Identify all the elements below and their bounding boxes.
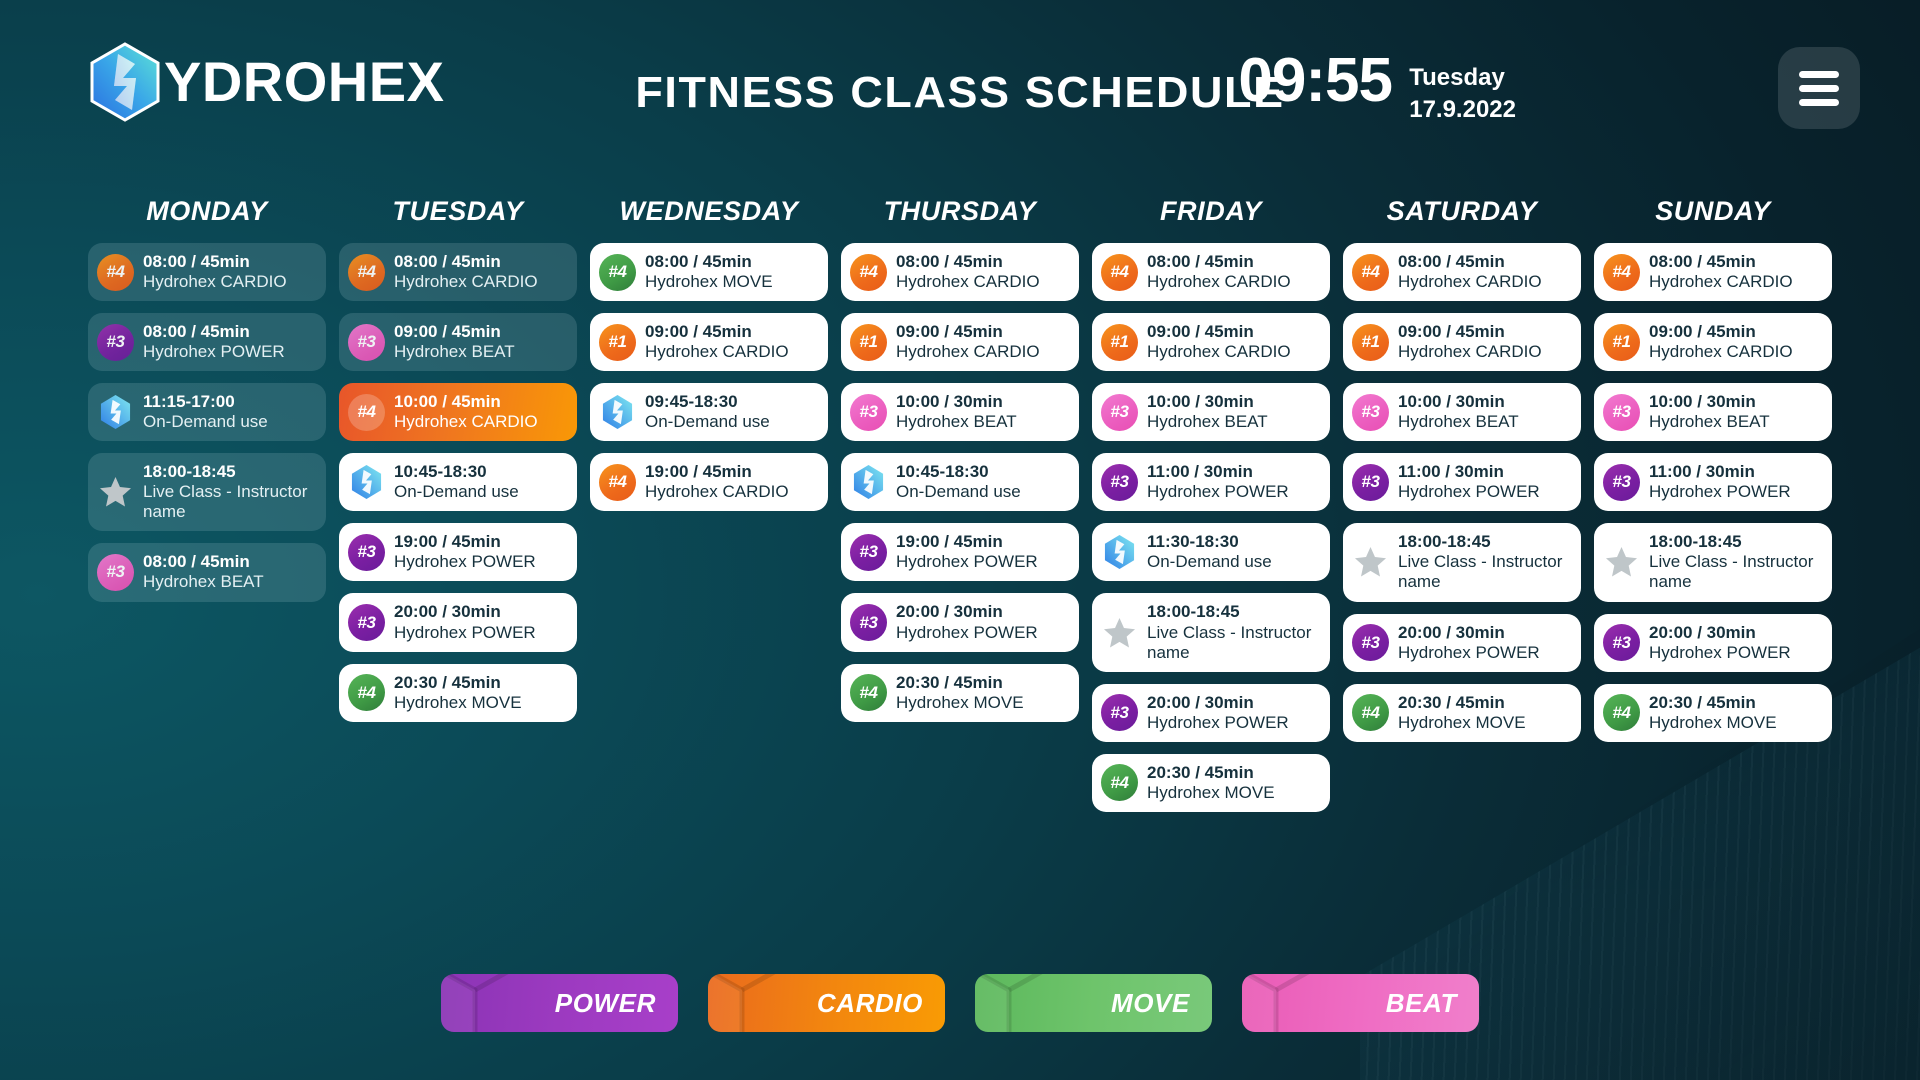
class-card[interactable]: #420:30 / 45minHydrohex MOVE (1594, 684, 1832, 742)
class-card-text: 20:00 / 30minHydrohex POWER (1147, 693, 1289, 733)
class-card-text: 10:00 / 30minHydrohex BEAT (1398, 392, 1519, 432)
class-card[interactable]: #308:00 / 45minHydrohex POWER (88, 313, 326, 371)
class-name: Hydrohex POWER (143, 342, 285, 362)
class-card-text: 08:00 / 45minHydrohex POWER (143, 322, 285, 362)
class-card-text: 20:30 / 45minHydrohex MOVE (896, 673, 1024, 713)
class-card[interactable]: #408:00 / 45minHydrohex CARDIO (339, 243, 577, 301)
class-time: 18:00-18:45 (1649, 532, 1822, 552)
class-level-badge: #3 (348, 604, 385, 641)
class-card[interactable]: #408:00 / 45minHydrohex CARDIO (1092, 243, 1330, 301)
day-header: THURSDAY (841, 196, 1079, 227)
class-card-text: 10:00 / 45minHydrohex CARDIO (394, 392, 538, 432)
class-name: Hydrohex POWER (394, 623, 536, 643)
class-time: 09:00 / 45min (1649, 322, 1793, 342)
class-card[interactable]: #311:00 / 30minHydrohex POWER (1092, 453, 1330, 511)
class-time: 10:45-18:30 (896, 462, 1021, 482)
day-column-friday: FRIDAY#408:00 / 45minHydrohex CARDIO#109… (1092, 196, 1330, 824)
class-time: 20:00 / 30min (1649, 623, 1791, 643)
class-card-text: 09:00 / 45minHydrohex CARDIO (1398, 322, 1542, 362)
legend-button-beat[interactable]: BEAT (1242, 974, 1479, 1032)
class-time: 08:00 / 45min (1649, 252, 1793, 272)
class-card[interactable]: #109:00 / 45minHydrohex CARDIO (1092, 313, 1330, 371)
class-level-badge: #4 (1352, 254, 1389, 291)
class-card-text: 08:00 / 45minHydrohex CARDIO (1147, 252, 1291, 292)
class-level-badge: #3 (1352, 394, 1389, 431)
class-name: Hydrohex BEAT (896, 412, 1017, 432)
class-card[interactable]: #109:00 / 45minHydrohex CARDIO (1594, 313, 1832, 371)
class-name: Hydrohex POWER (1649, 643, 1791, 663)
day-header: MONDAY (88, 196, 326, 227)
class-name: Hydrohex MOVE (1147, 783, 1275, 803)
legend-button-cardio[interactable]: CARDIO (708, 974, 945, 1032)
class-card[interactable]: 11:30-18:30On-Demand use (1092, 523, 1330, 581)
class-level-badge: #3 (1101, 464, 1138, 501)
class-card[interactable]: #420:30 / 45minHydrohex MOVE (841, 664, 1079, 722)
class-time: 08:00 / 45min (645, 252, 773, 272)
class-time: 19:00 / 45min (394, 532, 536, 552)
legend-label: MOVE (1111, 988, 1190, 1019)
class-time: 09:00 / 45min (394, 322, 515, 342)
class-card[interactable]: 10:45-18:30On-Demand use (841, 453, 1079, 511)
class-level-badge: #4 (850, 674, 887, 711)
class-level-badge: #4 (850, 254, 887, 291)
class-card[interactable]: #309:00 / 45minHydrohex BEAT (339, 313, 577, 371)
day-column-monday: MONDAY#408:00 / 45minHydrohex CARDIO#308… (88, 196, 326, 824)
class-time: 11:00 / 30min (1147, 462, 1289, 482)
class-card[interactable]: #419:00 / 45minHydrohex CARDIO (590, 453, 828, 511)
class-name: Hydrohex POWER (896, 623, 1038, 643)
class-name: Hydrohex BEAT (1649, 412, 1770, 432)
class-name: Hydrohex CARDIO (1649, 272, 1793, 292)
day-header: SATURDAY (1343, 196, 1581, 227)
class-card-text: 20:30 / 45minHydrohex MOVE (394, 673, 522, 713)
class-name: Hydrohex CARDIO (394, 272, 538, 292)
class-card-text: 10:00 / 30minHydrohex BEAT (1147, 392, 1268, 432)
class-card-text: 08:00 / 45minHydrohex CARDIO (143, 252, 287, 292)
class-level-badge: #4 (1603, 694, 1640, 731)
class-time: 10:45-18:30 (394, 462, 519, 482)
class-card-text: 08:00 / 45minHydrohex CARDIO (1649, 252, 1793, 292)
class-card[interactable]: #420:30 / 45minHydrohex MOVE (1092, 754, 1330, 812)
class-card[interactable]: #408:00 / 45minHydrohex CARDIO (1594, 243, 1832, 301)
class-level-badge: #3 (1101, 694, 1138, 731)
class-card-text: 09:00 / 45minHydrohex BEAT (394, 322, 515, 362)
class-name: Hydrohex BEAT (1147, 412, 1268, 432)
class-card-text: 18:00-18:45Live Class - Instructor name (1649, 532, 1822, 592)
class-level-badge: #4 (599, 464, 636, 501)
class-card[interactable]: #310:00 / 30minHydrohex BEAT (841, 383, 1079, 441)
hydrohex-hexagon-icon (850, 464, 887, 501)
class-card-text: 11:00 / 30minHydrohex POWER (1398, 462, 1540, 502)
class-card-text: 20:00 / 30minHydrohex POWER (896, 602, 1038, 642)
class-level-badge: #4 (1352, 694, 1389, 731)
class-name: Hydrohex POWER (394, 552, 536, 572)
class-card[interactable]: #311:00 / 30minHydrohex POWER (1594, 453, 1832, 511)
class-level-badge: #3 (850, 604, 887, 641)
class-card-text: 09:00 / 45minHydrohex CARDIO (896, 322, 1040, 362)
class-level-badge: #1 (599, 324, 636, 361)
class-card[interactable]: 11:15-17:00On-Demand use (88, 383, 326, 441)
class-name: Hydrohex CARDIO (896, 272, 1040, 292)
day-name: Tuesday (1409, 62, 1516, 94)
class-level-badge: #3 (1603, 394, 1640, 431)
hydrohex-hexagon-icon (1101, 534, 1138, 571)
class-name: Hydrohex CARDIO (1398, 272, 1542, 292)
class-card-text: 19:00 / 45minHydrohex CARDIO (645, 462, 789, 502)
class-name: Hydrohex MOVE (1398, 713, 1526, 733)
class-card[interactable]: #109:00 / 45minHydrohex CARDIO (590, 313, 828, 371)
class-card[interactable]: 18:00-18:45Live Class - Instructor name (1343, 523, 1581, 601)
menu-line (1799, 85, 1839, 92)
class-name: On-Demand use (896, 482, 1021, 502)
class-level-badge: #3 (348, 534, 385, 571)
class-card[interactable]: #310:00 / 30minHydrohex BEAT (1092, 383, 1330, 441)
class-level-badge: #4 (1101, 254, 1138, 291)
class-name: On-Demand use (394, 482, 519, 502)
menu-line (1799, 71, 1839, 78)
legend-button-move[interactable]: MOVE (975, 974, 1212, 1032)
class-name: Hydrohex CARDIO (143, 272, 287, 292)
class-card-text: 18:00-18:45Live Class - Instructor name (1147, 602, 1320, 662)
class-time: 18:00-18:45 (143, 462, 316, 482)
class-card-text: 11:00 / 30minHydrohex POWER (1147, 462, 1289, 502)
class-time: 10:00 / 30min (1398, 392, 1519, 412)
class-card-text: 20:30 / 45minHydrohex MOVE (1649, 693, 1777, 733)
class-card-text: 20:00 / 30minHydrohex POWER (1649, 623, 1791, 663)
class-level-badge: #3 (850, 534, 887, 571)
class-card[interactable]: #420:30 / 45minHydrohex MOVE (1343, 684, 1581, 742)
class-name: Hydrohex POWER (1398, 643, 1540, 663)
class-time: 20:00 / 30min (394, 602, 536, 622)
class-card[interactable]: #420:30 / 45minHydrohex MOVE (339, 664, 577, 722)
class-time: 09:00 / 45min (1147, 322, 1291, 342)
class-name: Hydrohex BEAT (394, 342, 515, 362)
class-time: 10:00 / 30min (1649, 392, 1770, 412)
star-icon (1603, 544, 1640, 581)
class-name: Hydrohex POWER (1147, 713, 1289, 733)
date-value: 17.9.2022 (1409, 94, 1516, 126)
class-time: 19:00 / 45min (896, 532, 1038, 552)
class-card[interactable]: #320:00 / 30minHydrohex POWER (339, 593, 577, 651)
class-name: Hydrohex MOVE (394, 693, 522, 713)
day-header: SUNDAY (1594, 196, 1832, 227)
class-name: Live Class - Instructor name (1398, 552, 1571, 592)
class-card[interactable]: #320:00 / 30minHydrohex POWER (1092, 684, 1330, 742)
schedule-board: YDROHEX FITNESS CLASS SCHEDULE 09:55 Tue… (0, 0, 1920, 1080)
class-card-text: 18:00-18:45Live Class - Instructor name (143, 462, 316, 522)
class-name: Live Class - Instructor name (1147, 623, 1320, 663)
schedule-grid: MONDAY#408:00 / 45minHydrohex CARDIO#308… (88, 196, 1848, 824)
class-name: Hydrohex CARDIO (896, 342, 1040, 362)
class-card[interactable]: 18:00-18:45Live Class - Instructor name (1594, 523, 1832, 601)
class-level-badge: #3 (1101, 394, 1138, 431)
class-name: Hydrohex POWER (1649, 482, 1791, 502)
class-card-text: 09:00 / 45minHydrohex CARDIO (645, 322, 789, 362)
class-level-badge: #3 (1352, 464, 1389, 501)
hydrohex-hexagon-icon (599, 394, 636, 431)
class-card[interactable]: #308:00 / 45minHydrohex BEAT (88, 543, 326, 601)
class-card-text: 08:00 / 45minHydrohex CARDIO (896, 252, 1040, 292)
day-column-tuesday: TUESDAY#408:00 / 45minHydrohex CARDIO#30… (339, 196, 577, 824)
class-name: Hydrohex POWER (1147, 482, 1289, 502)
class-name: Hydrohex CARDIO (1147, 342, 1291, 362)
legend-label: CARDIO (817, 988, 923, 1019)
class-name: On-Demand use (143, 412, 268, 432)
class-name: Hydrohex POWER (1398, 482, 1540, 502)
class-time: 09:00 / 45min (1398, 322, 1542, 342)
clock: 09:55 (1238, 50, 1392, 112)
class-name: Hydrohex BEAT (1398, 412, 1519, 432)
class-time: 09:00 / 45min (896, 322, 1040, 342)
class-level-badge: #4 (348, 674, 385, 711)
class-card[interactable]: #320:00 / 30minHydrohex POWER (1594, 614, 1832, 672)
hydrohex-hexagon-icon (348, 464, 385, 501)
class-card[interactable]: 18:00-18:45Live Class - Instructor name (1092, 593, 1330, 671)
class-time: 10:00 / 45min (394, 392, 538, 412)
class-card-text: 20:30 / 45minHydrohex MOVE (1398, 693, 1526, 733)
class-card[interactable]: #408:00 / 45minHydrohex CARDIO (841, 243, 1079, 301)
day-header: TUESDAY (339, 196, 577, 227)
class-time: 10:00 / 30min (1147, 392, 1268, 412)
class-time: 11:30-18:30 (1147, 532, 1272, 552)
class-card[interactable]: #410:00 / 45minHydrohex CARDIO (339, 383, 577, 441)
class-card[interactable]: #320:00 / 30minHydrohex POWER (1343, 614, 1581, 672)
class-time: 08:00 / 45min (394, 252, 538, 272)
class-card[interactable]: #408:00 / 45minHydrohex CARDIO (88, 243, 326, 301)
class-time: 20:00 / 30min (1398, 623, 1540, 643)
class-time: 20:00 / 30min (1147, 693, 1289, 713)
day-header: FRIDAY (1092, 196, 1330, 227)
class-name: Hydrohex CARDIO (645, 342, 789, 362)
class-time: 08:00 / 45min (1147, 252, 1291, 272)
class-time: 20:30 / 45min (1147, 763, 1275, 783)
class-card-text: 11:00 / 30minHydrohex POWER (1649, 462, 1791, 502)
class-card[interactable]: #319:00 / 45minHydrohex POWER (841, 523, 1079, 581)
class-time: 18:00-18:45 (1147, 602, 1320, 622)
class-name: Live Class - Instructor name (1649, 552, 1822, 592)
class-level-badge: #3 (97, 324, 134, 361)
class-time: 19:00 / 45min (645, 462, 789, 482)
class-time: 11:15-17:00 (143, 392, 268, 412)
class-card-text: 11:15-17:00On-Demand use (143, 392, 268, 432)
class-name: Hydrohex CARDIO (1398, 342, 1542, 362)
class-time: 08:00 / 45min (143, 252, 287, 272)
menu-line (1799, 99, 1839, 106)
class-card[interactable]: #310:00 / 30minHydrohex BEAT (1594, 383, 1832, 441)
class-level-badge: #4 (348, 254, 385, 291)
class-time: 11:00 / 30min (1398, 462, 1540, 482)
class-card[interactable]: #320:00 / 30minHydrohex POWER (841, 593, 1079, 651)
class-card-text: 10:00 / 30minHydrohex BEAT (1649, 392, 1770, 432)
class-card-text: 09:00 / 45minHydrohex CARDIO (1147, 322, 1291, 362)
star-icon (1101, 614, 1138, 651)
class-card[interactable]: #109:00 / 45minHydrohex CARDIO (841, 313, 1079, 371)
class-card[interactable]: 09:45-18:30On-Demand use (590, 383, 828, 441)
class-level-badge: #3 (1603, 624, 1640, 661)
class-level-badge: #3 (1352, 624, 1389, 661)
class-card-text: 09:45-18:30On-Demand use (645, 392, 770, 432)
hydrohex-hexagon-icon (97, 394, 134, 431)
class-card-text: 19:00 / 45minHydrohex POWER (896, 532, 1038, 572)
class-level-badge: #1 (1603, 324, 1640, 361)
class-level-badge: #4 (348, 394, 385, 431)
class-name: Hydrohex POWER (896, 552, 1038, 572)
class-card-text: 08:00 / 45minHydrohex CARDIO (1398, 252, 1542, 292)
class-card-text: 08:00 / 45minHydrohex CARDIO (394, 252, 538, 292)
date-block: Tuesday 17.9.2022 (1409, 62, 1516, 127)
class-card-text: 20:00 / 30minHydrohex POWER (1398, 623, 1540, 663)
day-column-thursday: THURSDAY#408:00 / 45minHydrohex CARDIO#1… (841, 196, 1079, 824)
class-card-text: 10:45-18:30On-Demand use (896, 462, 1021, 502)
class-name: Hydrohex MOVE (896, 693, 1024, 713)
class-card-text: 11:30-18:30On-Demand use (1147, 532, 1272, 572)
class-name: Hydrohex MOVE (1649, 713, 1777, 733)
class-card-text: 10:00 / 30minHydrohex BEAT (896, 392, 1017, 432)
class-level-badge: #4 (97, 254, 134, 291)
class-name: On-Demand use (1147, 552, 1272, 572)
legend-label: BEAT (1386, 988, 1457, 1019)
class-card-text: 19:00 / 45minHydrohex POWER (394, 532, 536, 572)
class-card-text: 08:00 / 45minHydrohex MOVE (645, 252, 773, 292)
class-level-badge: #1 (1352, 324, 1389, 361)
class-level-badge: #3 (97, 554, 134, 591)
day-column-sunday: SUNDAY#408:00 / 45minHydrohex CARDIO#109… (1594, 196, 1832, 824)
class-time: 20:30 / 45min (394, 673, 522, 693)
class-card[interactable]: #408:00 / 45minHydrohex CARDIO (1343, 243, 1581, 301)
class-time: 20:00 / 30min (896, 602, 1038, 622)
class-card-text: 20:00 / 30minHydrohex POWER (394, 602, 536, 642)
class-time: 08:00 / 45min (896, 252, 1040, 272)
day-column-wednesday: WEDNESDAY#408:00 / 45minHydrohex MOVE#10… (590, 196, 828, 824)
class-name: Live Class - Instructor name (143, 482, 316, 522)
star-icon (97, 474, 134, 511)
class-card[interactable]: 10:45-18:30On-Demand use (339, 453, 577, 511)
class-type-legend: POWER CARDIO MOVE BEAT (0, 974, 1920, 1032)
class-name: Hydrohex BEAT (143, 572, 264, 592)
class-level-badge: #4 (599, 254, 636, 291)
class-time: 20:30 / 45min (896, 673, 1024, 693)
class-level-badge: #4 (1603, 254, 1640, 291)
class-card[interactable]: #311:00 / 30minHydrohex POWER (1343, 453, 1581, 511)
class-time: 08:00 / 45min (1398, 252, 1542, 272)
class-name: Hydrohex CARDIO (394, 412, 538, 432)
class-card[interactable]: #408:00 / 45minHydrohex MOVE (590, 243, 828, 301)
class-name: Hydrohex MOVE (645, 272, 773, 292)
class-card-text: 10:45-18:30On-Demand use (394, 462, 519, 502)
class-time: 09:00 / 45min (645, 322, 789, 342)
class-card[interactable]: #319:00 / 45minHydrohex POWER (339, 523, 577, 581)
class-card-text: 20:30 / 45minHydrohex MOVE (1147, 763, 1275, 803)
legend-button-power[interactable]: POWER (441, 974, 678, 1032)
class-time: 10:00 / 30min (896, 392, 1017, 412)
legend-label: POWER (555, 988, 656, 1019)
class-card[interactable]: 18:00-18:45Live Class - Instructor name (88, 453, 326, 531)
class-name: Hydrohex CARDIO (1147, 272, 1291, 292)
class-card-text: 09:00 / 45minHydrohex CARDIO (1649, 322, 1793, 362)
class-level-badge: #1 (1101, 324, 1138, 361)
hamburger-menu-icon[interactable] (1778, 47, 1860, 129)
class-level-badge: #3 (1603, 464, 1640, 501)
star-icon (1352, 544, 1389, 581)
class-time: 18:00-18:45 (1398, 532, 1571, 552)
class-card-text: 08:00 / 45minHydrohex BEAT (143, 552, 264, 592)
class-time: 20:30 / 45min (1649, 693, 1777, 713)
class-name: On-Demand use (645, 412, 770, 432)
class-card-text: 18:00-18:45Live Class - Instructor name (1398, 532, 1571, 592)
class-time: 08:00 / 45min (143, 322, 285, 342)
class-name: Hydrohex CARDIO (1649, 342, 1793, 362)
class-level-badge: #3 (850, 394, 887, 431)
class-time: 09:45-18:30 (645, 392, 770, 412)
class-time: 08:00 / 45min (143, 552, 264, 572)
day-column-saturday: SATURDAY#408:00 / 45minHydrohex CARDIO#1… (1343, 196, 1581, 824)
class-name: Hydrohex CARDIO (645, 482, 789, 502)
class-level-badge: #3 (348, 324, 385, 361)
header-bar: YDROHEX FITNESS CLASS SCHEDULE 09:55 Tue… (0, 0, 1920, 160)
class-time: 20:30 / 45min (1398, 693, 1526, 713)
class-level-badge: #4 (1101, 764, 1138, 801)
class-time: 11:00 / 30min (1649, 462, 1791, 482)
page-title: FITNESS CLASS SCHEDULE (0, 68, 1920, 118)
day-header: WEDNESDAY (590, 196, 828, 227)
class-level-badge: #1 (850, 324, 887, 361)
class-card[interactable]: #109:00 / 45minHydrohex CARDIO (1343, 313, 1581, 371)
class-card[interactable]: #310:00 / 30minHydrohex BEAT (1343, 383, 1581, 441)
